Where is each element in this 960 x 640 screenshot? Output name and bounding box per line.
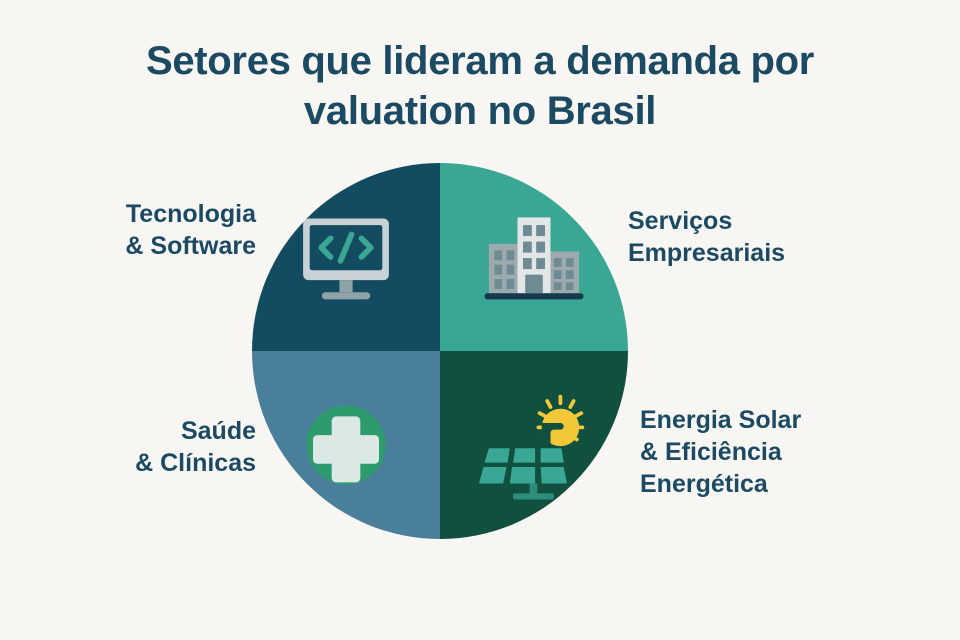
label-servicos-empresariais: Serviços Empresariais	[628, 205, 908, 269]
infographic-canvas: Setores que lideram a demanda por valuat…	[0, 0, 960, 640]
quadrant-energia[interactable]	[440, 351, 628, 539]
quadrant-wheel	[252, 163, 628, 539]
label-line: Empresariais	[628, 237, 908, 269]
label-line: Energia Solar	[640, 404, 940, 436]
title-line-1: Setores que lideram a demanda por	[0, 36, 960, 86]
label-line: Serviços	[628, 205, 908, 237]
quadrant-saude[interactable]	[252, 351, 440, 539]
label-line: Energética	[640, 468, 940, 500]
quadrant-servicos[interactable]	[440, 163, 628, 351]
quadrant-tecnologia[interactable]	[252, 163, 440, 351]
office-buildings-icon	[479, 202, 589, 312]
solar-panel-sun-icon	[479, 390, 589, 500]
medical-cross-icon	[291, 390, 401, 500]
label-line: & Clínicas	[0, 447, 256, 479]
label-energia-solar: Energia Solar & Eficiência Energética	[640, 404, 940, 500]
label-line: & Eficiência	[640, 436, 940, 468]
label-tecnologia-software: Tecnologia & Software	[0, 198, 256, 262]
page-title: Setores que lideram a demanda por valuat…	[0, 36, 960, 136]
monitor-code-icon	[291, 202, 401, 312]
label-saude-clinicas: Saúde & Clínicas	[0, 415, 256, 479]
label-line: Tecnologia	[0, 198, 256, 230]
title-line-2: valuation no Brasil	[0, 86, 960, 136]
label-line: Saúde	[0, 415, 256, 447]
label-line: & Software	[0, 230, 256, 262]
